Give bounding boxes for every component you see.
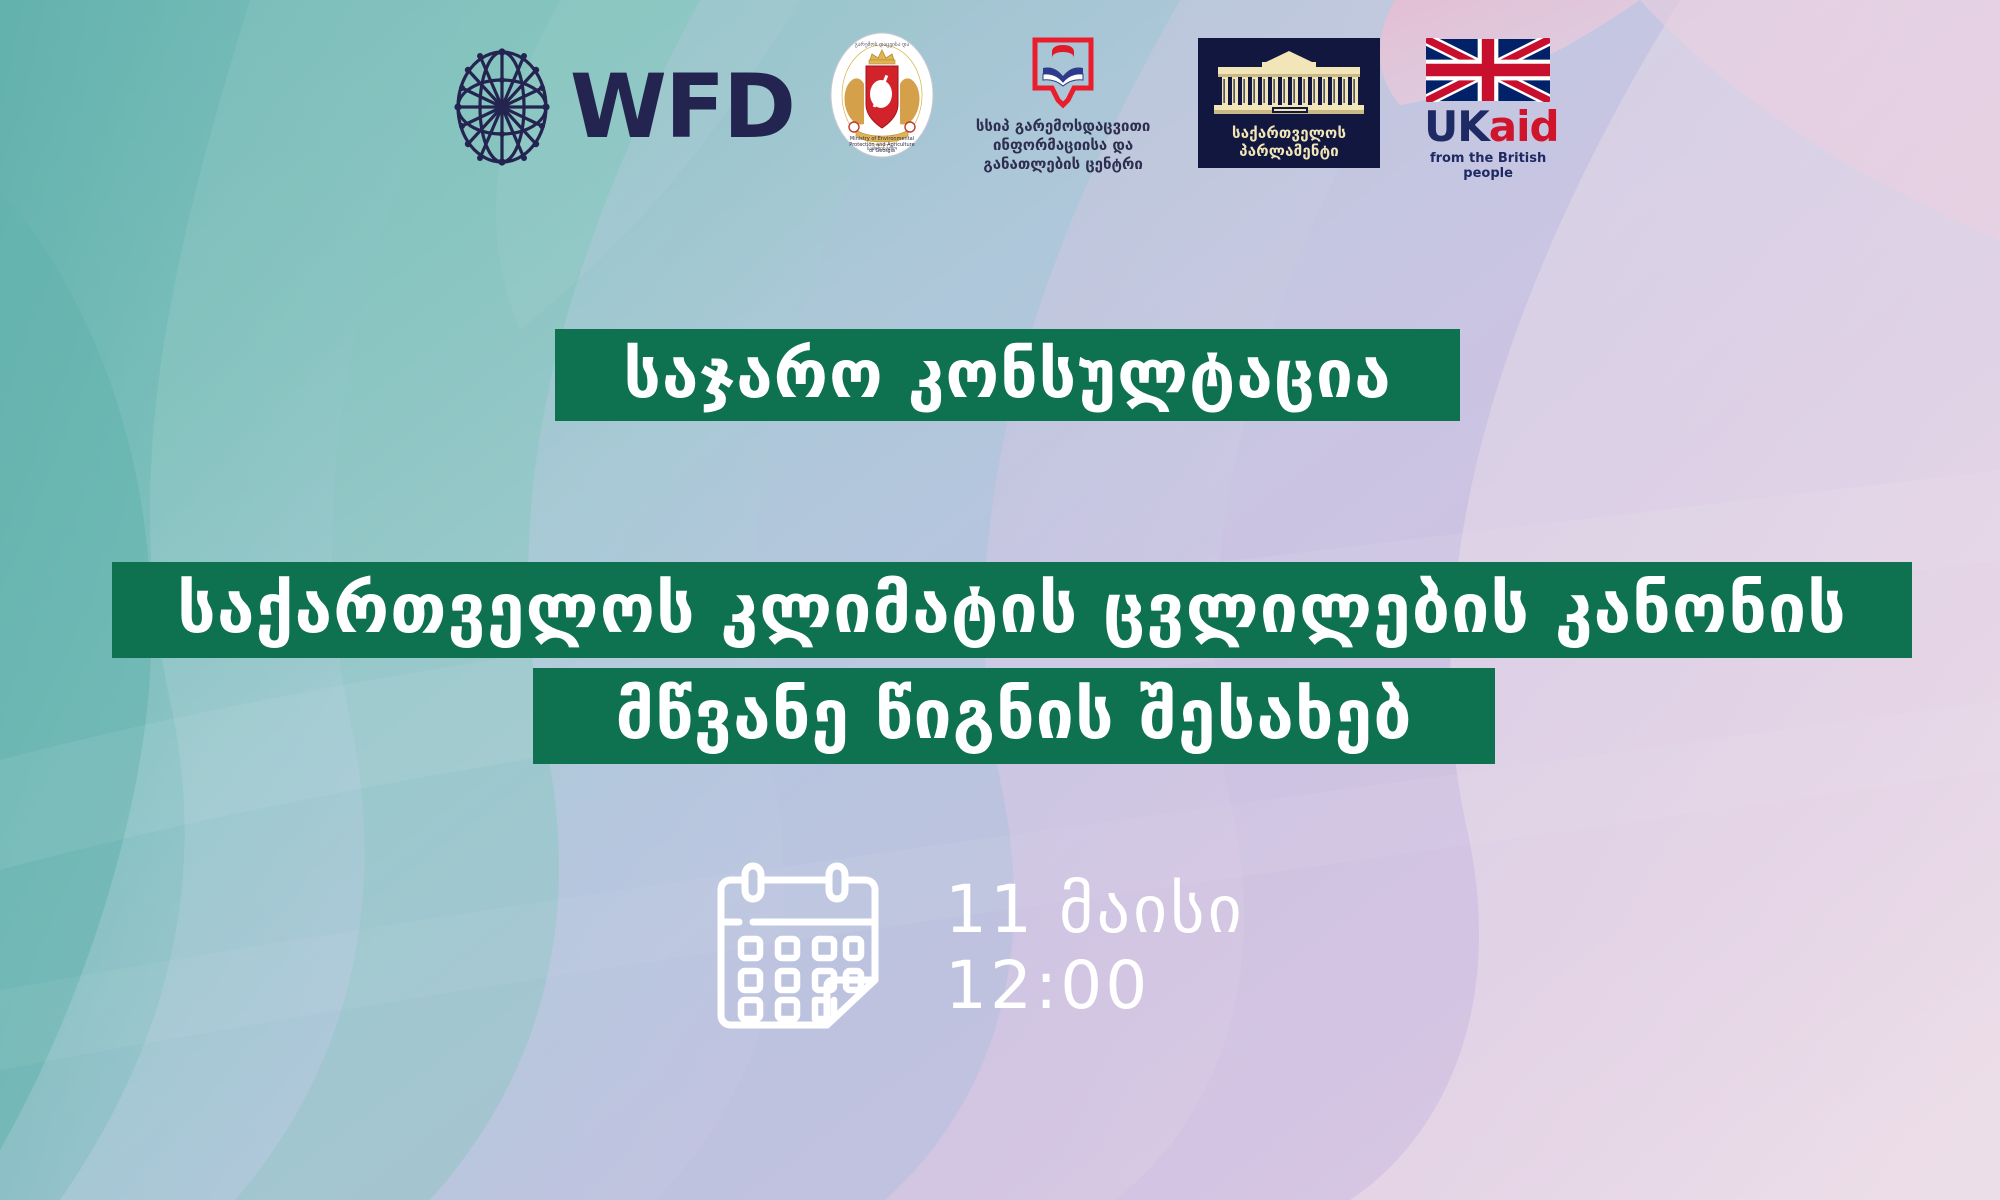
headline-bar-public-consultation: საჯარო კონსულტაცია — [555, 329, 1460, 421]
ukaid-uk-text: UK — [1424, 102, 1489, 151]
open-book-shield-icon — [1030, 36, 1096, 110]
ukaid-wordmark: UKaid — [1424, 106, 1552, 148]
headline-line-1: საჯარო კონსულტაცია — [623, 342, 1391, 408]
svg-text:გარემოს დაცვისა და: გარემოს დაცვისა და — [855, 41, 910, 48]
event-datetime-text: 11 მაისი 12:00 — [945, 872, 1245, 1024]
ukaid-aid-text: aid — [1489, 102, 1559, 151]
headline-line-2: საქართველოს კლიმატის ცვლილების კანონის — [177, 576, 1847, 644]
union-jack-flag-icon — [1426, 38, 1550, 102]
infocenter-caption-line-3: განათლების ცენტრი — [968, 155, 1158, 174]
globe-wireframe-icon — [448, 48, 556, 166]
headline-line-3: მწვანე წიგნის შესახებ — [615, 682, 1412, 750]
event-datetime-block: 11 მაისი 12:00 — [715, 860, 1245, 1035]
headline-bar-law-title: საქართველოს კლიმატის ცვლილების კანონის — [112, 562, 1912, 658]
forest-environmental-information-center-logo: სსიპ გარემოსდაცვითი ინფორმაციისა და განა… — [968, 36, 1158, 173]
wfd-logo: WFD — [448, 48, 794, 166]
ukaid-logo: UKaid from the British people — [1424, 38, 1552, 181]
event-date: 11 მაისი — [945, 872, 1245, 948]
svg-text:of Georgia: of Georgia — [869, 148, 895, 154]
parliament-building-icon — [1204, 44, 1374, 122]
poster-canvas: WFD გარემოს დაცვისა და სამინისტრო — [0, 0, 2000, 1200]
calendar-icon — [715, 860, 885, 1035]
parliament-caption: საქართველოს პარლამენტი — [1204, 124, 1374, 160]
partner-logo-strip: WFD გარემოს დაცვისა და სამინისტრო — [0, 26, 2000, 176]
wfd-wordmark: WFD — [570, 63, 794, 151]
ministry-of-environmental-protection-logo: გარემოს დაცვისა და სამინისტრო — [830, 32, 934, 162]
parliament-of-georgia-logo: საქართველოს პარლამენტი — [1198, 38, 1380, 168]
infocenter-caption-line-2: ინფორმაციისა და — [968, 136, 1158, 155]
ukaid-subtitle: from the British people — [1424, 151, 1552, 181]
event-time: 12:00 — [945, 948, 1245, 1024]
georgia-coat-of-arms-icon: გარემოს დაცვისა და სამინისტრო — [830, 32, 934, 158]
headline-bar-green-paper: მწვანე წიგნის შესახებ — [533, 668, 1495, 764]
infocenter-caption: სსიპ გარემოსდაცვითი ინფორმაციისა და განა… — [968, 117, 1158, 173]
infocenter-caption-line-1: სსიპ გარემოსდაცვითი — [968, 117, 1158, 136]
